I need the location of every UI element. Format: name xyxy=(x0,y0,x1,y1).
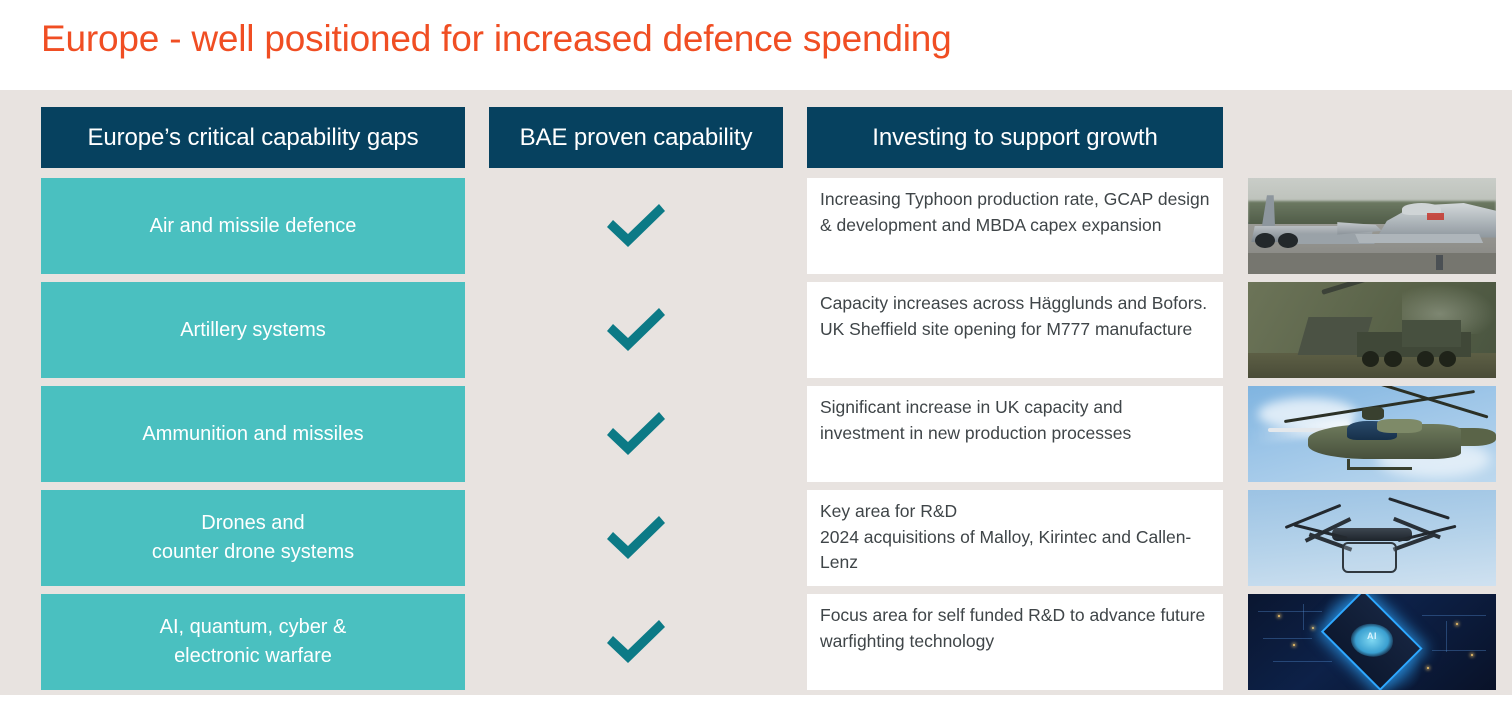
row-image-quadcopter-drone xyxy=(1248,490,1496,586)
proven-capability-cell xyxy=(489,178,783,274)
ai-chip-label: AI xyxy=(1367,631,1377,641)
check-icon xyxy=(603,513,669,563)
table-row: AI, quantum, cyber & electronic warfare … xyxy=(0,594,1512,690)
row-image-artillery-vehicle xyxy=(1248,282,1496,378)
column-header-investing: Investing to support growth xyxy=(807,107,1223,168)
proven-capability-cell xyxy=(489,386,783,482)
investment-text-cell: Significant increase in UK capacity and … xyxy=(807,386,1223,482)
capability-gap-cell: Artillery systems xyxy=(41,282,465,378)
column-header-capability-gaps: Europe’s critical capability gaps xyxy=(41,107,465,168)
capability-gap-cell: Drones and counter drone systems xyxy=(41,490,465,586)
row-image-helicopter-missile xyxy=(1248,386,1496,482)
check-icon xyxy=(603,617,669,667)
slide: Europe - well positioned for increased d… xyxy=(0,0,1512,714)
capability-gap-cell: AI, quantum, cyber & electronic warfare xyxy=(41,594,465,690)
table-row: Artillery systems Capacity increases acr… xyxy=(0,282,1512,378)
proven-capability-cell xyxy=(489,282,783,378)
column-header-bae-capability: BAE proven capability xyxy=(489,107,783,168)
content-panel: Europe’s critical capability gaps BAE pr… xyxy=(0,90,1512,695)
check-icon xyxy=(603,201,669,251)
page-title: Europe - well positioned for increased d… xyxy=(41,18,951,60)
capability-gap-cell: Ammunition and missiles xyxy=(41,386,465,482)
check-icon xyxy=(603,409,669,459)
proven-capability-cell xyxy=(489,490,783,586)
check-icon xyxy=(603,305,669,355)
investment-text-cell: Focus area for self funded R&D to advanc… xyxy=(807,594,1223,690)
table-row: Drones and counter drone systems Key are… xyxy=(0,490,1512,586)
row-image-typhoon-jets xyxy=(1248,178,1496,274)
investment-text-cell: Increasing Typhoon production rate, GCAP… xyxy=(807,178,1223,274)
investment-text-cell: Key area for R&D 2024 acquisitions of Ma… xyxy=(807,490,1223,586)
proven-capability-cell xyxy=(489,594,783,690)
investment-text-cell: Capacity increases across Hägglunds and … xyxy=(807,282,1223,378)
capability-gap-cell: Air and missile defence xyxy=(41,178,465,274)
table-row: Ammunition and missiles Significant incr… xyxy=(0,386,1512,482)
table-row: Air and missile defence Increasing Typho… xyxy=(0,178,1512,274)
row-image-ai-chip: AI xyxy=(1248,594,1496,690)
